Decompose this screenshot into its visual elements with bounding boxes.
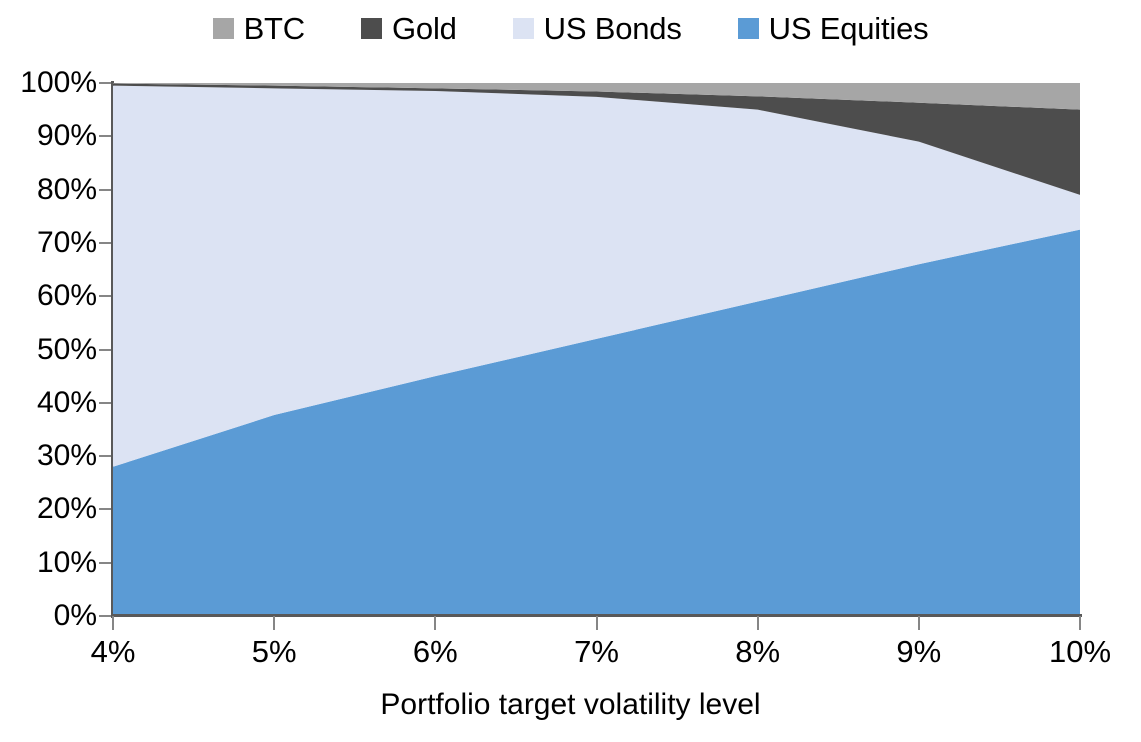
x-axis-tick-marks [113, 616, 1080, 630]
y-tick-label: 70% [0, 228, 97, 258]
x-tick-label: 6% [365, 632, 505, 672]
plot-area [113, 83, 1080, 616]
y-tick-label: 80% [0, 175, 97, 205]
legend-item-btc[interactable]: BTC [213, 13, 305, 44]
x-tick-mark [434, 616, 436, 630]
x-tick-label: 5% [204, 632, 344, 672]
x-tick-label: 7% [527, 632, 667, 672]
legend-swatch-us-equities [738, 18, 759, 39]
x-tick-mark [596, 616, 598, 630]
x-tick-label: 8% [688, 632, 828, 672]
legend-label-gold: Gold [392, 13, 457, 44]
y-tick-label: 40% [0, 388, 97, 418]
legend-item-us-bonds[interactable]: US Bonds [513, 13, 682, 44]
x-tick-label: 9% [849, 632, 989, 672]
stacked-area-chart: BTC Gold US Bonds US Equities 0%10%20%30… [0, 0, 1141, 742]
legend-label-btc: BTC [244, 13, 305, 44]
y-tick-label: 0% [0, 601, 97, 631]
x-tick-mark [1079, 616, 1081, 630]
x-tick-label: 4% [43, 632, 183, 672]
y-tick-label: 10% [0, 548, 97, 578]
y-tick-label: 100% [0, 68, 97, 98]
y-axis-tick-labels: 0%10%20%30%40%50%60%70%80%90%100% [0, 83, 97, 616]
x-axis-tick-labels: 4%5%6%7%8%9%10% [113, 632, 1080, 676]
legend-swatch-btc [213, 18, 234, 39]
y-tick-label: 60% [0, 281, 97, 311]
legend-label-us-equities: US Equities [769, 13, 929, 44]
area-series-canvas [113, 83, 1080, 616]
x-tick-label: 10% [1010, 632, 1141, 672]
x-tick-mark [273, 616, 275, 630]
y-tick-label: 30% [0, 441, 97, 471]
legend-label-us-bonds: US Bonds [544, 13, 682, 44]
y-tick-label: 20% [0, 494, 97, 524]
y-tick-label: 50% [0, 335, 97, 365]
x-tick-mark [918, 616, 920, 630]
x-axis-title: Portfolio target volatility level [0, 686, 1141, 724]
x-tick-mark [757, 616, 759, 630]
legend-item-us-equities[interactable]: US Equities [738, 13, 929, 44]
chart-legend: BTC Gold US Bonds US Equities [0, 6, 1141, 50]
legend-swatch-us-bonds [513, 18, 534, 39]
x-tick-mark [112, 616, 114, 630]
y-tick-label: 90% [0, 121, 97, 151]
legend-item-gold[interactable]: Gold [361, 13, 457, 44]
legend-swatch-gold [361, 18, 382, 39]
